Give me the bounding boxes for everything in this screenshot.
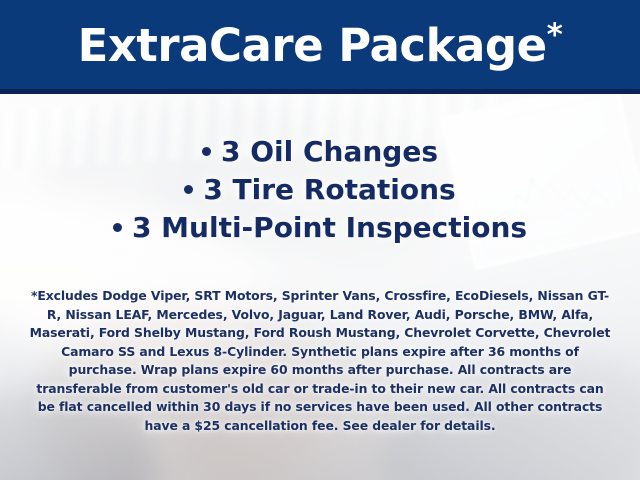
page-title-text: ExtraCare Package [78,19,547,72]
benefit-label: 3 Oil Changes [221,135,438,168]
benefit-label: 3 Tire Rotations [203,173,455,206]
bullet-dot-icon [184,185,193,194]
disclaimer-text: *Excludes Dodge Viper, SRT Motors, Sprin… [28,287,612,435]
benefit-label: 3 Multi-Point Inspections [132,211,527,244]
header-band: ExtraCare Package* [0,0,640,94]
extracare-promo-card: ExtraCare Package* 3 Oil Changes 3 Tire … [0,0,640,480]
page-title: ExtraCare Package* [78,23,563,72]
bullet-dot-icon [113,223,122,232]
disclaimer-block: *Excludes Dodge Viper, SRT Motors, Sprin… [28,287,612,435]
list-item: 3 Tire Rotations [0,171,640,209]
page-title-asterisk: * [547,17,563,53]
list-item: 3 Multi-Point Inspections [0,209,640,247]
benefits-list: 3 Oil Changes 3 Tire Rotations 3 Multi-P… [0,133,640,247]
bullet-dot-icon [202,147,211,156]
list-item: 3 Oil Changes [0,133,640,171]
